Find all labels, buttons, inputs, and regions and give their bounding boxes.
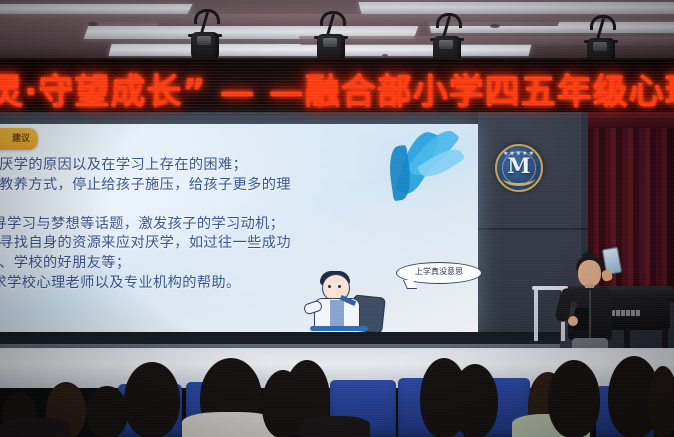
- audience-head: [86, 386, 128, 437]
- recessed-downlight: [490, 24, 500, 28]
- audience-shoulders: [300, 416, 370, 437]
- school-emblem: ★★★★★ M: [495, 144, 543, 192]
- stage-spotlight: [190, 28, 220, 62]
- slide-line: ；: [0, 195, 478, 215]
- projection-screen: 建议 孩子厌学的原因以及在学习上存在的困难； 家庭教养方式，停止给孩子施压，给孩…: [0, 124, 478, 332]
- slide-line: 孩子厌学的原因以及在学习上存在的困难；: [0, 156, 478, 176]
- audience-head: [548, 360, 600, 437]
- recessed-downlight: [88, 22, 98, 26]
- audience-head: [452, 364, 498, 437]
- led-banner-text: 灵·守望成长” — —融合部小学四五年级心理健康教: [0, 64, 674, 115]
- audience-area: [0, 356, 674, 437]
- cartoon-student-illustration: [300, 272, 396, 334]
- slide-line: 探寻学习与梦想等话题，激发孩子的学习动机；: [0, 215, 478, 235]
- audience-head: [124, 362, 180, 437]
- slide-section-tab: 建议: [0, 128, 38, 150]
- photo-frame: 灵·守望成长” — —融合部小学四五年级心理健康教 ★★★★★ M 建议 孩子厌…: [0, 0, 674, 437]
- emblem-arc: [503, 171, 535, 186]
- audience-head: [648, 366, 674, 437]
- audience-shoulders: [0, 418, 70, 437]
- slide-line: 孩子寻找自身的资源来应对厌学，如过往一些成功: [0, 234, 478, 254]
- slide-section-tab-label: 建议: [12, 131, 30, 144]
- ceiling: [0, 0, 674, 64]
- speech-bubble: 上学真没意思: [396, 262, 482, 284]
- recessed-downlight: [382, 54, 388, 57]
- slide-line: 家庭教养方式，停止给孩子施压，给孩子更多的理: [0, 176, 478, 196]
- led-banner: 灵·守望成长” — —融合部小学四五年级心理健康教: [0, 58, 674, 120]
- speech-bubble-text: 上学真没意思: [397, 266, 481, 277]
- ceiling-light-panel: [358, 2, 674, 14]
- ceiling-light-panel: [0, 4, 193, 14]
